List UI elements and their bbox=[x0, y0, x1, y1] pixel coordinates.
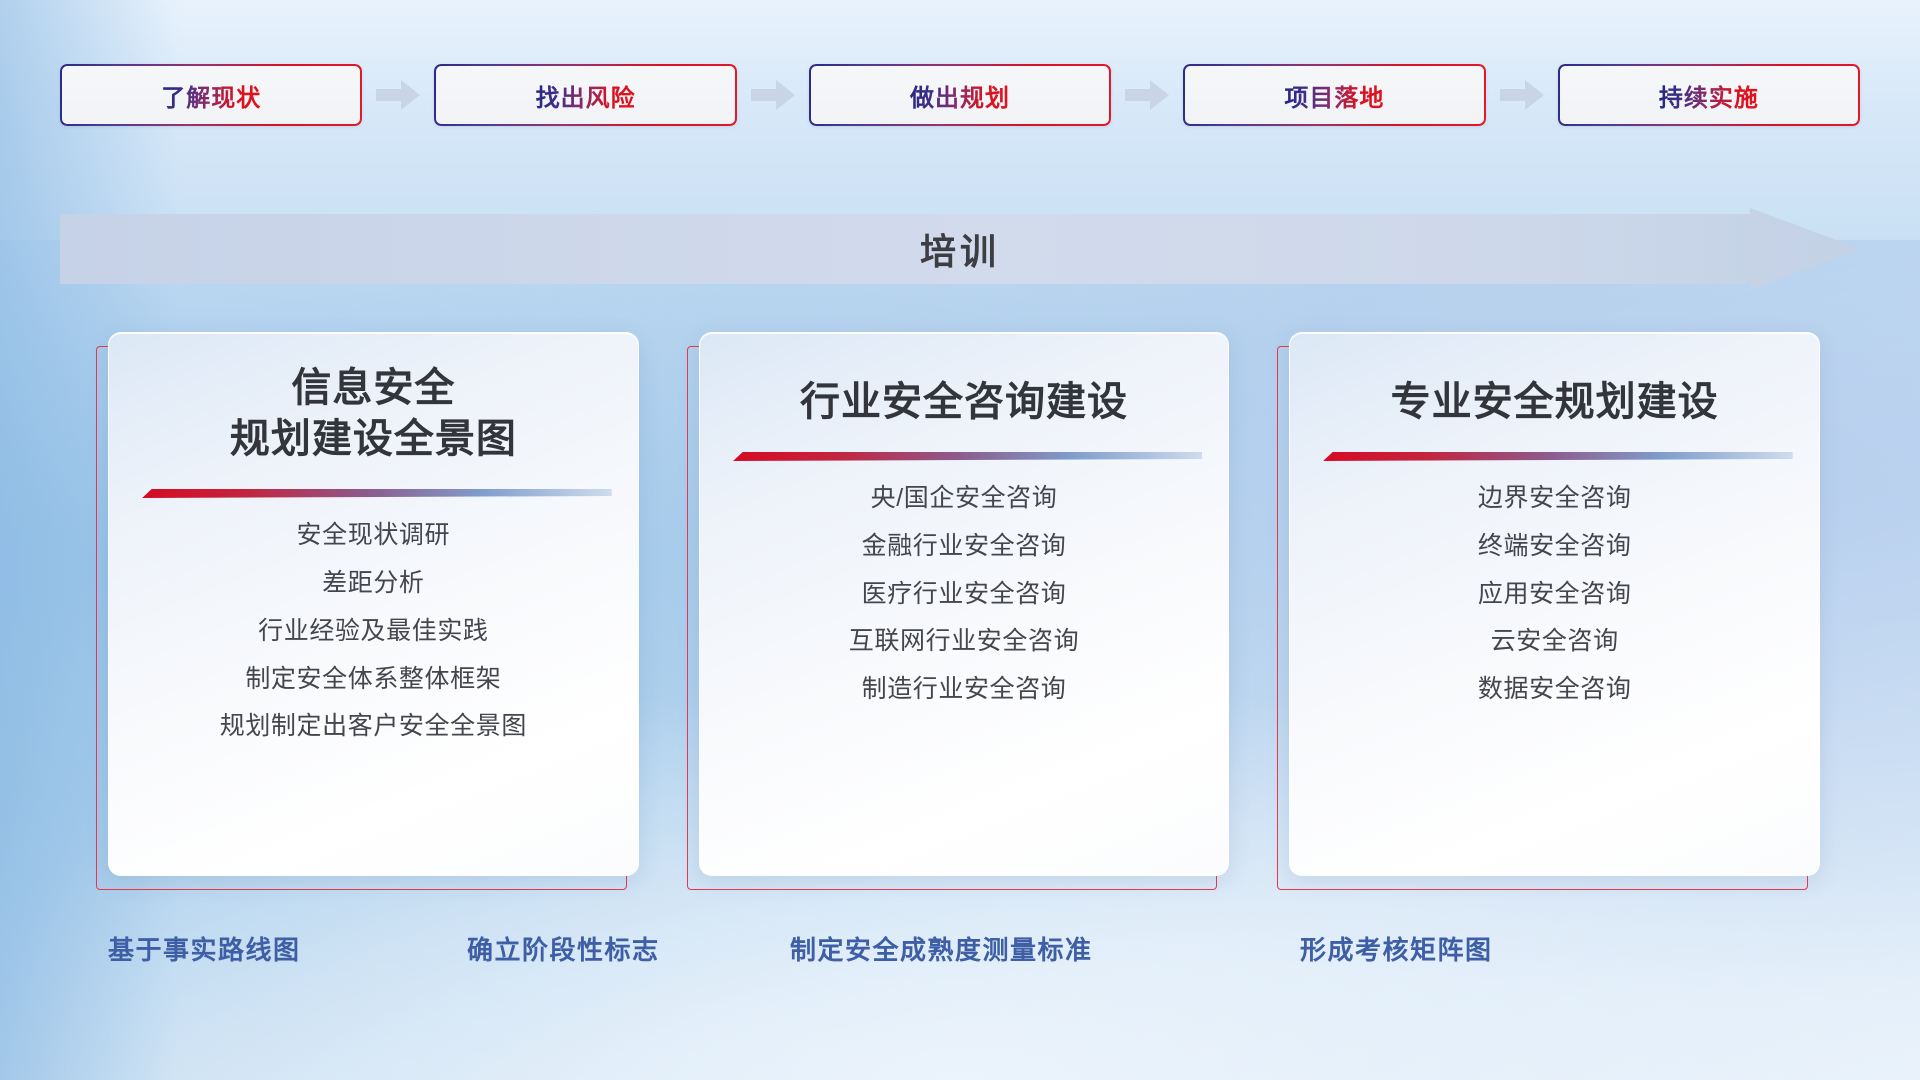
process-step-5[interactable]: 持续实施 bbox=[1558, 64, 1860, 126]
list-item[interactable]: 制定安全体系整体框架 bbox=[245, 660, 501, 699]
capability-card-wrapper: 信息安全规划建设全景图安全现状调研差距分析行业经验及最佳实践制定安全体系整体框架… bbox=[108, 332, 637, 874]
capability-card-3[interactable]: 专业安全规划建设边界安全咨询终端安全咨询应用安全咨询云安全咨询数据安全咨询 bbox=[1289, 332, 1820, 876]
list-item[interactable]: 制造行业安全咨询 bbox=[862, 670, 1067, 709]
list-item[interactable]: 行业经验及最佳实践 bbox=[258, 612, 488, 651]
training-banner: 培训 bbox=[60, 208, 1860, 290]
outcome-label-4: 形成考核矩阵图 bbox=[1300, 930, 1493, 967]
outcome-label-row: 基于事实路线图确立阶段性标志制定安全成熟度测量标准形成考核矩阵图 bbox=[0, 930, 1920, 974]
process-step-label: 项目落地 bbox=[1284, 78, 1384, 113]
outcome-label-1: 基于事实路线图 bbox=[108, 930, 301, 967]
capability-card-wrapper: 行业安全咨询建设央/国企安全咨询金融行业安全咨询医疗行业安全咨询互联网行业安全咨… bbox=[699, 332, 1228, 874]
list-item[interactable]: 应用安全咨询 bbox=[1478, 575, 1632, 614]
card-divider bbox=[1316, 450, 1793, 463]
process-step-4[interactable]: 项目落地 bbox=[1183, 64, 1485, 126]
list-item[interactable]: 金融行业安全咨询 bbox=[862, 527, 1067, 566]
process-step-label: 了解现状 bbox=[161, 78, 261, 113]
outcome-label-2: 确立阶段性标志 bbox=[467, 930, 660, 967]
list-item[interactable]: 差距分析 bbox=[322, 564, 424, 603]
card-title: 行业安全咨询建设 bbox=[800, 377, 1128, 428]
process-step-3[interactable]: 做出规划 bbox=[809, 64, 1111, 126]
process-step-label: 持续实施 bbox=[1659, 78, 1759, 113]
arrow-right-icon bbox=[1111, 75, 1183, 115]
list-item[interactable]: 医疗行业安全咨询 bbox=[862, 575, 1067, 614]
list-item[interactable]: 边界安全咨询 bbox=[1478, 479, 1632, 518]
process-step-2[interactable]: 找出风险 bbox=[434, 64, 736, 126]
list-item[interactable]: 数据安全咨询 bbox=[1478, 670, 1632, 709]
list-item[interactable]: 央/国企安全咨询 bbox=[871, 479, 1058, 518]
banner-label: 培训 bbox=[60, 208, 1860, 290]
list-item[interactable]: 云安全咨询 bbox=[1491, 622, 1619, 661]
card-title-line: 信息安全 bbox=[230, 363, 517, 414]
capability-card-2[interactable]: 行业安全咨询建设央/国企安全咨询金融行业安全咨询医疗行业安全咨询互联网行业安全咨… bbox=[699, 332, 1230, 876]
list-item[interactable]: 安全现状调研 bbox=[297, 516, 451, 555]
list-item[interactable]: 终端安全咨询 bbox=[1478, 527, 1632, 566]
card-title: 专业安全规划建设 bbox=[1391, 377, 1719, 428]
outcome-label-3: 制定安全成熟度测量标准 bbox=[790, 930, 1093, 967]
card-title-line: 规划建设全景图 bbox=[230, 414, 517, 465]
card-item-list: 安全现状调研差距分析行业经验及最佳实践制定安全体系整体框架规划制定出客户安全全景… bbox=[109, 516, 638, 746]
card-title: 信息安全规划建设全景图 bbox=[230, 363, 517, 465]
capability-card-1[interactable]: 信息安全规划建设全景图安全现状调研差距分析行业经验及最佳实践制定安全体系整体框架… bbox=[108, 332, 639, 876]
arrow-right-icon bbox=[1486, 75, 1558, 115]
card-item-list: 央/国企安全咨询金融行业安全咨询医疗行业安全咨询互联网行业安全咨询制造行业安全咨… bbox=[700, 479, 1229, 709]
capability-card-wrapper: 专业安全规划建设边界安全咨询终端安全咨询应用安全咨询云安全咨询数据安全咨询 bbox=[1289, 332, 1818, 874]
process-step-label: 找出风险 bbox=[536, 78, 636, 113]
card-title-line: 行业安全咨询建设 bbox=[800, 377, 1128, 428]
arrow-right-icon bbox=[737, 75, 809, 115]
card-title-line: 专业安全规划建设 bbox=[1391, 377, 1719, 428]
list-item[interactable]: 规划制定出客户安全全景图 bbox=[220, 707, 527, 746]
process-step-1[interactable]: 了解现状 bbox=[60, 64, 362, 126]
arrow-right-icon bbox=[362, 75, 434, 115]
card-item-list: 边界安全咨询终端安全咨询应用安全咨询云安全咨询数据安全咨询 bbox=[1290, 479, 1819, 709]
list-item[interactable]: 互联网行业安全咨询 bbox=[849, 622, 1079, 661]
card-divider bbox=[135, 487, 612, 500]
card-divider bbox=[726, 450, 1203, 463]
process-step-flow: 了解现状找出风险做出规划项目落地持续实施 bbox=[60, 63, 1860, 127]
process-step-label: 做出规划 bbox=[910, 78, 1010, 113]
capability-card-row: 信息安全规划建设全景图安全现状调研差距分析行业经验及最佳实践制定安全体系整体框架… bbox=[108, 332, 1818, 874]
